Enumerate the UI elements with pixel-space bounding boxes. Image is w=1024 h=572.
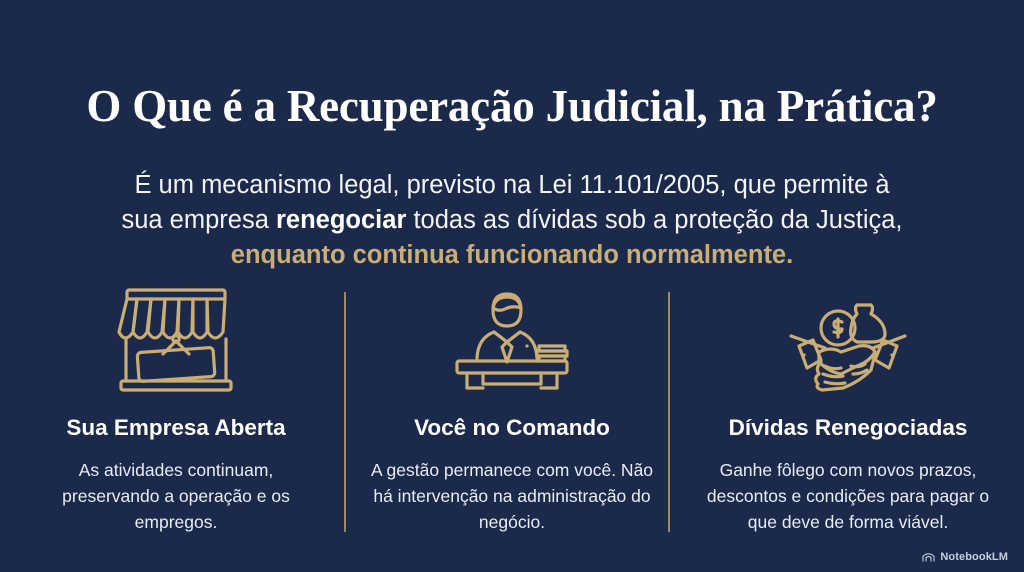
notebooklm-logo-icon: [922, 552, 935, 563]
feature-column-dividas-renegociadas: Dívidas Renegociadas Ganhe fôlego com no…: [686, 284, 1010, 535]
feature-heading: Você no Comando: [350, 414, 674, 441]
notebooklm-watermark: NotebookLM: [922, 551, 1008, 563]
subtitle-text-part-2: todas as dívidas sob a proteção da Justi…: [406, 206, 902, 234]
feature-column-voce-no-comando: Você no Comando A gestão permanece com v…: [350, 284, 674, 535]
feature-body: As atividades continuam, preservando a o…: [14, 457, 338, 535]
feature-heading: Dívidas Renegociadas: [686, 414, 1010, 441]
feature-body: Ganhe fôlego com novos prazos, descontos…: [686, 457, 1010, 535]
subtitle-paragraph: É um mecanismo legal, previsto na Lei 11…: [112, 168, 912, 273]
handshake-money-bag-icon: [686, 284, 1010, 394]
notebooklm-label: NotebookLM: [940, 551, 1008, 563]
businessperson-at-desk-icon: [350, 284, 674, 394]
feature-column-empresa-aberta: Sua Empresa Aberta As atividades continu…: [14, 284, 338, 535]
storefront-open-icon: [14, 284, 338, 394]
subtitle-bold-word: renegociar: [276, 206, 406, 234]
feature-body: A gestão permanece com você. Não há inte…: [350, 457, 674, 535]
slide-canvas: O Que é a Recuperação Judicial, na Práti…: [0, 0, 1024, 572]
feature-columns: Sua Empresa Aberta As atividades continu…: [0, 284, 1024, 544]
feature-heading: Sua Empresa Aberta: [14, 414, 338, 441]
subtitle-highlight: enquanto continua funcionando normalment…: [231, 241, 793, 269]
page-title: O Que é a Recuperação Judicial, na Práti…: [0, 82, 1024, 132]
